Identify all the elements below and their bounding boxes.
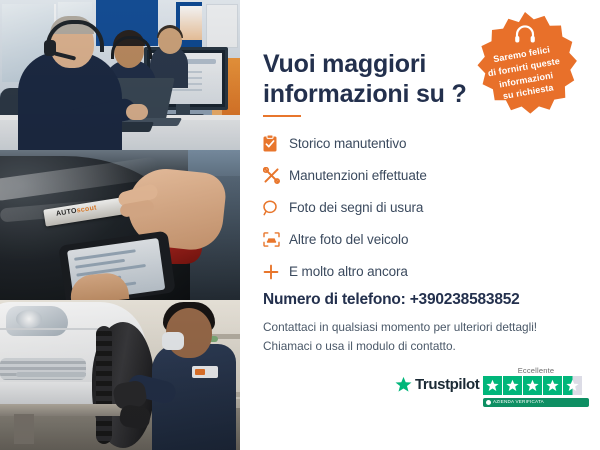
- star-icon: [563, 376, 582, 395]
- list-item: Foto dei segni di usura: [263, 195, 513, 220]
- content-panel: Vuoi maggiori informazioni su ? Saremo f…: [240, 0, 600, 450]
- list-item-label: Storico manutentivo: [289, 136, 406, 151]
- verified-check-icon: [486, 400, 491, 405]
- magnifier-icon: [263, 200, 289, 216]
- headset-icon: [514, 24, 536, 44]
- list-item: Altre foto del veicolo: [263, 227, 513, 252]
- list-item: Storico manutentivo: [263, 131, 513, 156]
- page-title: Vuoi maggiori informazioni su ?: [263, 49, 493, 110]
- trustpilot-wordmark: Trustpilot: [415, 376, 479, 393]
- plus-icon: [263, 264, 289, 280]
- rating-label: Eccellente: [483, 366, 589, 375]
- feature-list: Storico manutentivo Manutenzioni effettu…: [263, 131, 513, 291]
- list-item-label: E molto altro ancora: [289, 264, 408, 279]
- star-rating: [483, 376, 589, 395]
- contact-info-banner: AUTOscout: [0, 0, 600, 450]
- title-divider: [263, 115, 301, 117]
- contact-subtext-line-2: Chiamaci o usa il modulo di contatto.: [263, 339, 456, 353]
- photo-call-center: [0, 0, 240, 150]
- photo-column: AUTOscout: [0, 0, 240, 450]
- list-item-label: Foto dei segni di usura: [289, 200, 423, 215]
- headline-line-1: Vuoi maggiori: [263, 50, 426, 78]
- star-icon: [483, 376, 502, 395]
- car-focus-frame-icon: [263, 232, 289, 247]
- trustpilot-star-icon: [395, 376, 412, 393]
- star-icon: [523, 376, 542, 395]
- contact-subtext: Contattaci in qualsiasi momento per ulte…: [263, 318, 553, 356]
- verified-business-badge: AZIENDA VERIFICATA: [483, 398, 589, 407]
- photo-mechanic-wheel: [0, 300, 240, 450]
- star-icon: [503, 376, 522, 395]
- clipboard-check-icon: [263, 135, 289, 152]
- trustpilot-widget[interactable]: Trustpilot Eccellente AZIENDA VERIFICATA: [395, 366, 590, 414]
- on-request-badge: Saremo felici di fornirti queste informa…: [470, 10, 580, 120]
- photo-inspection-tool: AUTOscout: [0, 150, 240, 300]
- contact-subtext-line-1: Contattaci in qualsiasi momento per ulte…: [263, 320, 537, 334]
- list-item: E molto altro ancora: [263, 259, 513, 284]
- star-icon: [543, 376, 562, 395]
- trustpilot-logo: Trustpilot: [395, 376, 479, 393]
- list-item-label: Altre foto del veicolo: [289, 232, 408, 247]
- verified-label: AZIENDA VERIFICATA: [493, 400, 544, 405]
- list-item: Manutenzioni effettuate: [263, 163, 513, 188]
- list-item-label: Manutenzioni effettuate: [289, 168, 427, 183]
- trustpilot-rating: Eccellente AZIENDA VERIFICATA: [483, 366, 589, 407]
- headline-line-2: informazioni su ?: [263, 80, 467, 108]
- tools-wrench-screwdriver-icon: [263, 167, 289, 184]
- phone-number[interactable]: Numero di telefono: +390238583852: [263, 291, 520, 309]
